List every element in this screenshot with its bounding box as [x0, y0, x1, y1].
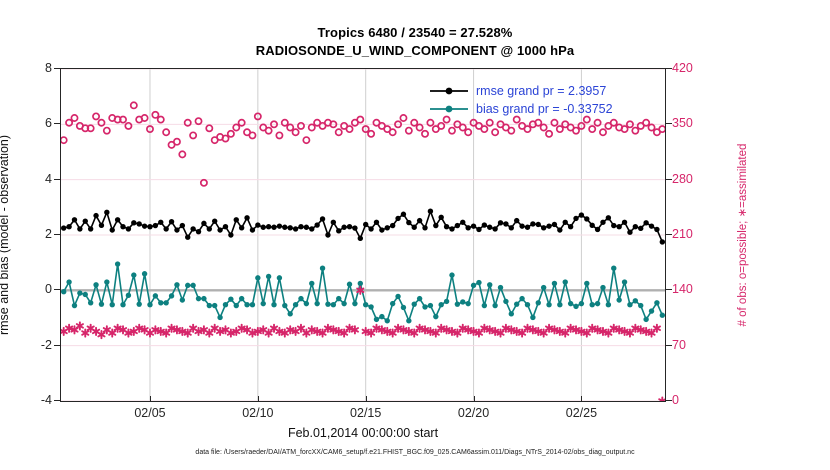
right-tick-label-1: 70 [672, 338, 686, 352]
plot-frame [60, 68, 666, 402]
left-axis-title: rmse and bias (model - observation) [0, 70, 11, 400]
x-tick-mark [581, 396, 582, 402]
left-tick-mark [54, 289, 60, 290]
right-tick-label-0: 0 [672, 393, 679, 407]
legend-swatch-0 [428, 82, 470, 100]
legend-label-1: bias grand pr = -0.33752 [476, 100, 613, 118]
x-tick-mark [258, 396, 259, 402]
chart-title-line-2: RADIOSONDE_U_WIND_COMPONENT @ 1000 hPa [0, 43, 830, 58]
right-tick-label-2: 140 [672, 282, 693, 296]
legend-swatch-1 [428, 100, 470, 118]
x-tick-mark [366, 396, 367, 402]
chart-page: Tropics 6480 / 23540 = 27.528% RADIOSOND… [0, 0, 830, 470]
right-tick-label-4: 280 [672, 172, 693, 186]
right-tick-label-3: 210 [672, 227, 693, 241]
x-tick-mark [474, 396, 475, 402]
left-tick-label-0: -4 [41, 393, 52, 407]
left-tick-mark [54, 234, 60, 235]
left-tick-label-1: -2 [41, 338, 52, 352]
left-tick-mark [54, 400, 60, 401]
left-tick-mark [54, 68, 60, 69]
left-tick-mark [54, 179, 60, 180]
right-tick-label-6: 420 [672, 61, 693, 75]
left-tick-label-4: 4 [45, 172, 52, 186]
left-tick-label-5: 6 [45, 116, 52, 130]
data-file-note: data file: /Users/raeder/DAI/ATM_forcXX/… [0, 449, 830, 456]
left-tick-label-6: 8 [45, 61, 52, 75]
left-tick-label-3: 2 [45, 227, 52, 241]
right-tick-label-5: 350 [672, 116, 693, 130]
x-tick-mark [150, 396, 151, 402]
x-tick-label-2: 02/15 [350, 406, 381, 420]
x-tick-label-3: 02/20 [458, 406, 489, 420]
chart-title-line-1: Tropics 6480 / 23540 = 27.528% [0, 25, 830, 40]
x-tick-label-1: 02/10 [242, 406, 273, 420]
legend-label-0: rmse grand pr = 2.3957 [476, 82, 606, 100]
x-tick-label-4: 02/25 [566, 406, 597, 420]
right-axis-title: # of obs: o=possible; ∗=assimilated [735, 70, 749, 400]
left-tick-label-2: 0 [45, 282, 52, 296]
x-tick-label-0: 02/05 [134, 406, 165, 420]
x-axis-title: Feb.01,2014 00:00:00 start [0, 426, 726, 440]
left-tick-mark [54, 345, 60, 346]
left-tick-mark [54, 123, 60, 124]
